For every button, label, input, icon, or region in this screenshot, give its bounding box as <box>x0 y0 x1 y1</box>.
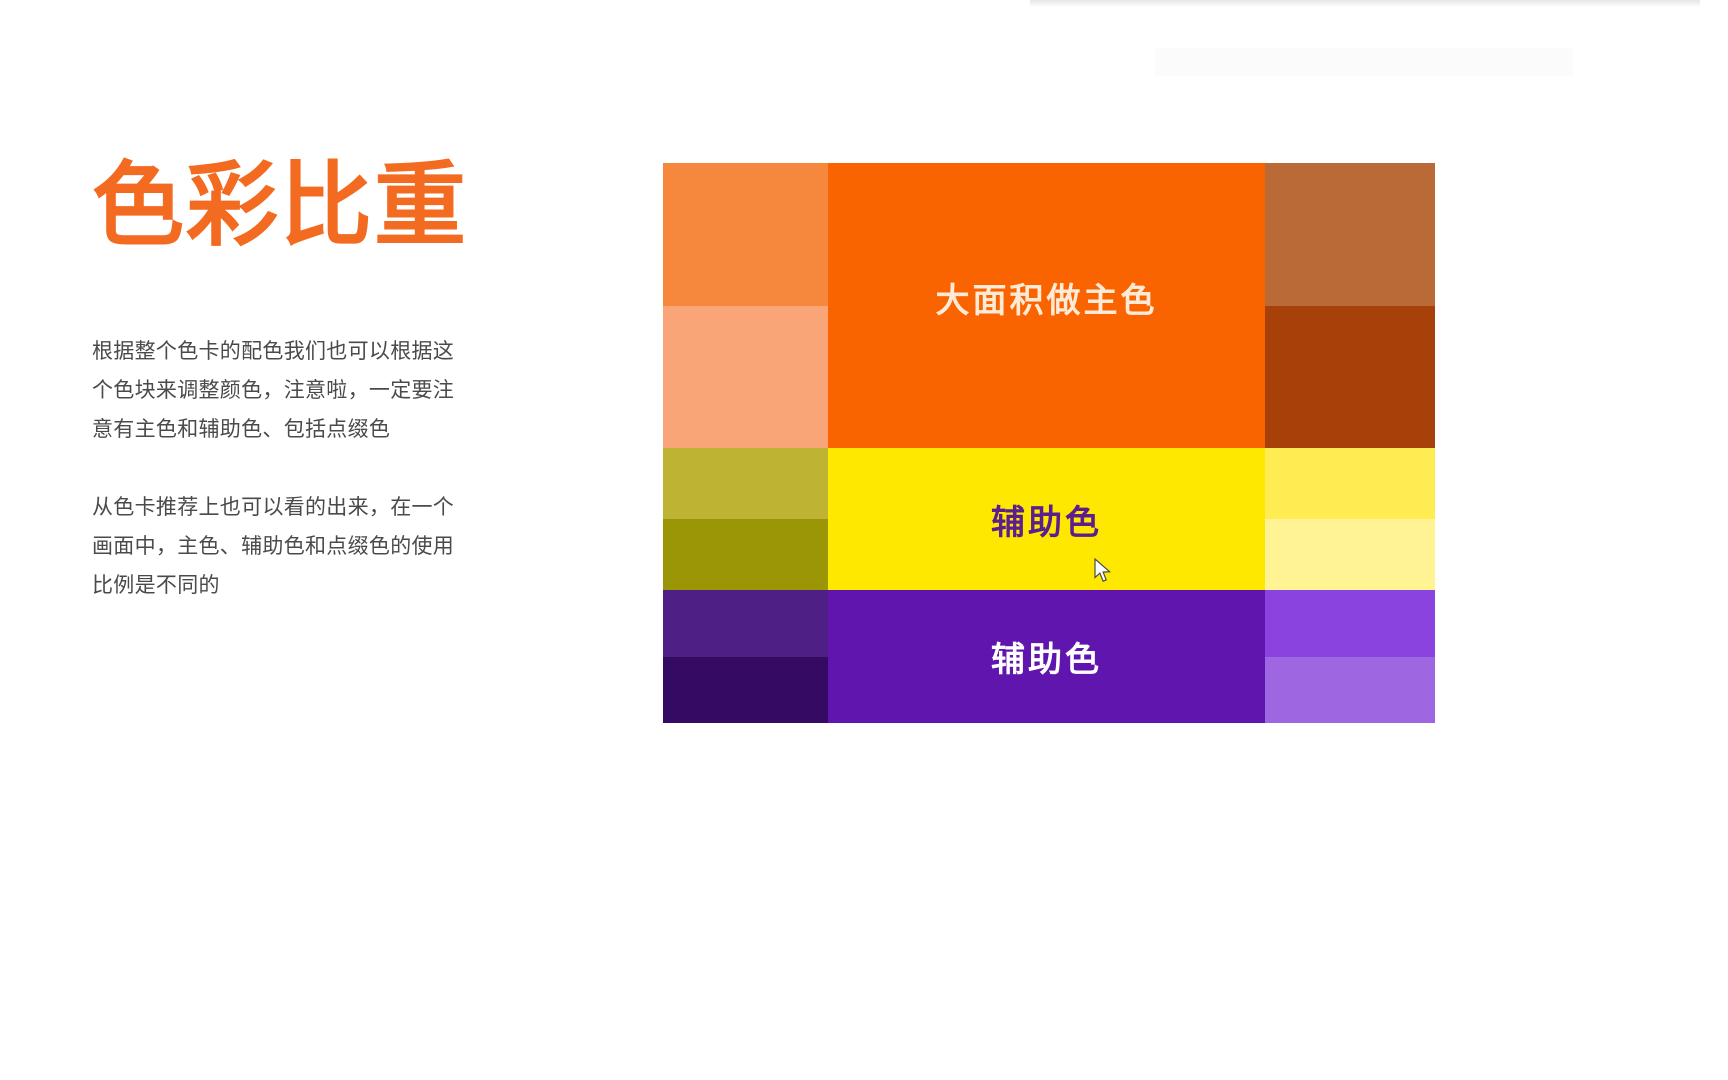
window-shadow <box>1030 0 1700 7</box>
swatch-left-purple-1[interactable] <box>663 590 828 657</box>
accent-column-right-yellow <box>1265 448 1435 590</box>
swatch-right-primary-1[interactable] <box>1265 163 1435 306</box>
swatch-right-primary-2[interactable] <box>1265 306 1435 449</box>
editorial-column: 色彩比重 根据整个色卡的配色我们也可以根据这个色块来调整颜色，注意啦，一定要注意… <box>92 160 562 605</box>
label-secondary-yellow: 辅助色 <box>991 495 1102 544</box>
body-paragraph-1: 根据整个色卡的配色我们也可以根据这个色块来调整颜色，注意啦，一定要注意有主色和辅… <box>92 332 470 449</box>
color-proportion-grid: 大面积做主色 辅助色 辅助色 <box>663 163 1435 723</box>
accent-column-left-primary <box>663 163 828 448</box>
swatch-left-yellow-1[interactable] <box>663 448 828 519</box>
main-swatch-primary[interactable]: 大面积做主色 <box>828 163 1265 448</box>
swatch-left-primary-1[interactable] <box>663 163 828 306</box>
swatch-right-yellow-1[interactable] <box>1265 448 1435 519</box>
grid-row-secondary-purple: 辅助色 <box>663 590 1435 723</box>
page-title: 色彩比重 <box>92 160 562 252</box>
accent-column-right-purple <box>1265 590 1435 723</box>
swatch-right-yellow-2[interactable] <box>1265 519 1435 590</box>
main-swatch-yellow[interactable]: 辅助色 <box>828 448 1265 590</box>
swatch-left-primary-2[interactable] <box>663 306 828 449</box>
accent-column-left-purple <box>663 590 828 723</box>
window-toolbar-fragment <box>1155 48 1573 76</box>
main-swatch-purple[interactable]: 辅助色 <box>828 590 1265 723</box>
body-paragraph-2: 从色卡推荐上也可以看的出来，在一个画面中，主色、辅助色和点缀色的使用比例是不同的 <box>92 488 470 605</box>
label-primary: 大面积做主色 <box>936 273 1158 322</box>
accent-column-left-yellow <box>663 448 828 590</box>
label-secondary-purple: 辅助色 <box>991 632 1102 681</box>
swatch-right-purple-2[interactable] <box>1265 657 1435 724</box>
grid-row-primary: 大面积做主色 <box>663 163 1435 448</box>
accent-column-right-primary <box>1265 163 1435 448</box>
swatch-right-purple-1[interactable] <box>1265 590 1435 657</box>
swatch-left-yellow-2[interactable] <box>663 519 828 590</box>
grid-row-secondary-yellow: 辅助色 <box>663 448 1435 590</box>
swatch-left-purple-2[interactable] <box>663 657 828 724</box>
